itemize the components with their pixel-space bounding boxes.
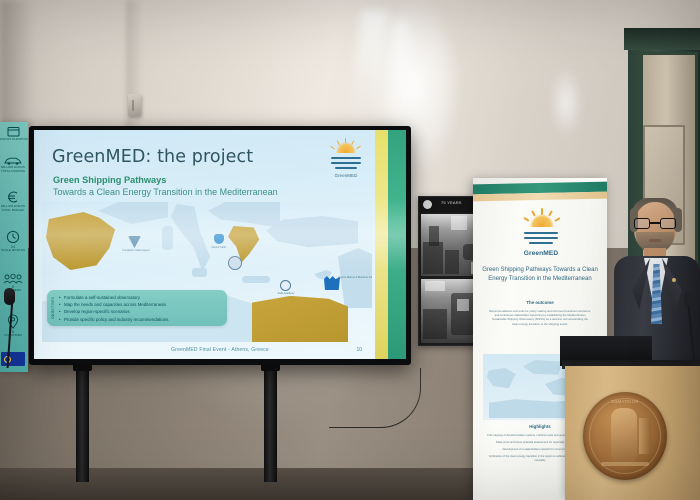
objectives-box: OBJECTIVES •Formulate a self-sustained o…	[47, 290, 227, 326]
photo-board-logo-icon	[423, 200, 432, 209]
map-marker-marinetraffic-label: MarineTraffic	[202, 246, 236, 249]
infopanel-label: COUNTRIES	[0, 334, 28, 338]
map-marker-marinetraffic-icon	[214, 234, 224, 244]
photo-board-title: 75 YEARS	[441, 200, 462, 205]
display-screen: GreenMED: the project Green Shipping Pat…	[34, 130, 406, 359]
infopanel-item: 24 SCALE MONTHS	[0, 230, 28, 253]
speaker-mouth	[649, 239, 661, 242]
objective-item: •Provide specific policy and industry re…	[59, 316, 223, 323]
slide-stripe-green	[388, 130, 406, 359]
wall-sensor-icon	[128, 94, 141, 116]
objective-item: •Develop region-specific scenarios	[59, 308, 223, 315]
wave-icon	[331, 157, 361, 159]
banner-tagline: Green Shipping Pathways Towards a Clean …	[482, 266, 598, 284]
slide-title: GreenMED: the project	[52, 147, 253, 167]
emblem-base	[601, 462, 649, 466]
map-marker-arab-academy-label: Arab Academy	[266, 292, 306, 295]
display-stand	[29, 364, 411, 484]
people-icon	[3, 274, 23, 284]
greenmed-logo-icon: GreenMED	[326, 140, 366, 182]
map-marker-cmmi-label: Cyprus Marine & Maritime Institute	[338, 276, 372, 279]
objective-item: •Map the needs and capacities across Med…	[59, 301, 223, 308]
country-egypt	[252, 294, 348, 342]
slide: GreenMED: the project Green Shipping Pat…	[34, 130, 406, 359]
objectives-tab-label: OBJECTIVES	[51, 297, 55, 319]
map-marker-arab-academy-icon	[280, 280, 291, 291]
banner-sand-band	[473, 192, 607, 202]
objectives-tab: OBJECTIVES	[49, 293, 57, 323]
infopanel-item: MONTHS DURATION	[0, 126, 28, 142]
podium-emblem: ΣΩΜΑΤΕΙΟΝ	[583, 392, 667, 480]
conference-room-scene: 75 YEARS GreenMED: the project	[0, 0, 700, 500]
infopanel-item: MILLION EUROS TOTAL FUNDING	[0, 156, 28, 173]
stand-leg-right	[264, 364, 277, 482]
lapel-pin-icon	[672, 278, 676, 282]
presentation-display[interactable]: GreenMED: the project Green Shipping Pat…	[29, 126, 411, 365]
calendar-icon	[7, 126, 20, 137]
infopanel-label: SCALE MONTHS	[0, 249, 28, 253]
emblem-column	[639, 418, 651, 454]
clock-icon	[6, 230, 20, 244]
power-cable	[329, 368, 421, 428]
slide-subtitle-bold: Green Shipping Pathways	[53, 175, 166, 185]
slide-subtitle: Towards a Clean Energy Transition in the…	[53, 187, 278, 197]
slide-footer-text: GreenMED Final Event - Athens, Greece	[171, 347, 269, 353]
infopanel-label: MONTHS DURATION	[0, 138, 28, 142]
map-marker-hellenic-lloyds-icon	[228, 256, 242, 270]
microphone-icon-right	[684, 292, 693, 306]
objectives-list: •Formulate a self-sustained observatory …	[59, 294, 223, 323]
infopanel-item: MILLION EUROS TOTAL BUDGET	[0, 190, 28, 212]
banner-outcome-body: Recommendations and tools for policy mak…	[489, 309, 591, 326]
microphone-icon-left	[4, 288, 15, 305]
banner-outcome-heading: The outcome	[473, 300, 607, 305]
logo-label: GreenMED	[326, 173, 366, 178]
slide-footer: GreenMED Final Event - Athens, Greece	[34, 347, 406, 353]
euro-icon	[6, 190, 20, 204]
slide-page-number: 10	[356, 347, 362, 353]
slide-stripe-yellow	[375, 130, 388, 359]
infographic-panel: MONTHS DURATION MILLION EUROS TOTAL FUND…	[0, 122, 28, 372]
objective-item: •Formulate a self-sustained observatory	[59, 294, 223, 301]
car-icon	[4, 156, 22, 165]
land-crete	[242, 276, 270, 283]
infopanel-item: 5 COUNTRIES	[0, 314, 28, 338]
door-frame-top	[624, 28, 700, 50]
banner-logo-label: GreenMED	[518, 250, 564, 257]
stand-leg-left	[76, 364, 89, 482]
map-marker-valenciaport-label: Fundacion Valenciaport	[116, 249, 156, 252]
infopanel-label: MILLION EUROS TOTAL BUDGET	[0, 205, 28, 212]
emblem-text: ΣΩΜΑΤΕΙΟΝ	[583, 399, 667, 404]
glasses-icon	[634, 218, 676, 229]
emblem-figure	[611, 408, 637, 464]
wall-light-patch	[545, 55, 587, 150]
window-light-streak-2	[390, 20, 410, 140]
infopanel-label: MILLION EUROS TOTAL FUNDING	[0, 166, 28, 173]
land-sardinia	[162, 226, 173, 250]
eu-flag-icon	[1, 352, 25, 366]
land-sicily	[192, 268, 207, 277]
banner-greenmed-logo-icon: GreenMED	[518, 212, 564, 260]
